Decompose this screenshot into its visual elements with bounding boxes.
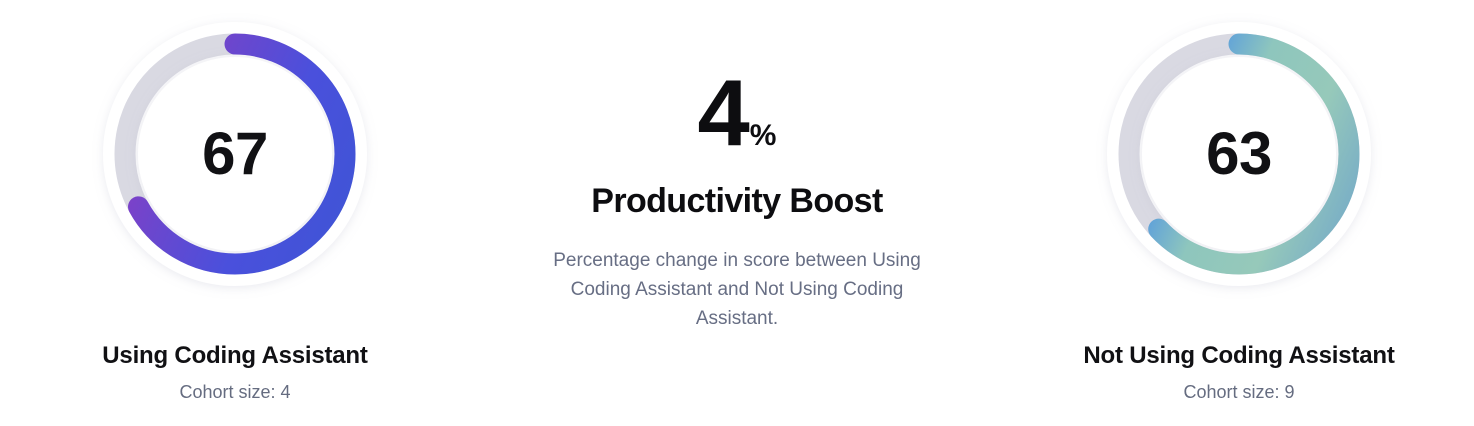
gauge-right-label: Not Using Coding Assistant (1083, 342, 1394, 370)
summary-percent-unit: % (750, 121, 777, 151)
gauge-right: 63 (1108, 23, 1370, 285)
summary-block: 4 % Productivity Boost Percentage change… (502, 0, 972, 333)
gauge-card-not-using-coding-assistant: 63 Not Using Coding Assistant Cohort siz… (1004, 0, 1474, 403)
gauge-right-value: 63 (1206, 124, 1272, 184)
gauge-right-cohort-size: Cohort size: 9 (1183, 382, 1294, 404)
summary-percent-value: 4 (698, 68, 747, 157)
summary-title: Productivity Boost (591, 183, 882, 220)
summary-figure: 4 % (698, 68, 777, 157)
gauge-left: 67 (104, 23, 366, 285)
gauge-left-label: Using Coding Assistant (102, 342, 367, 370)
gauge-left-cohort-size: Cohort size: 4 (179, 382, 290, 404)
summary-description: Percentage change in score between Using… (537, 246, 937, 333)
productivity-comparison-panel: 67 Using Coding Assistant Cohort size: 4… (0, 0, 1474, 426)
gauge-card-using-coding-assistant: 67 Using Coding Assistant Cohort size: 4 (0, 0, 470, 403)
gauge-left-value: 67 (202, 124, 268, 184)
